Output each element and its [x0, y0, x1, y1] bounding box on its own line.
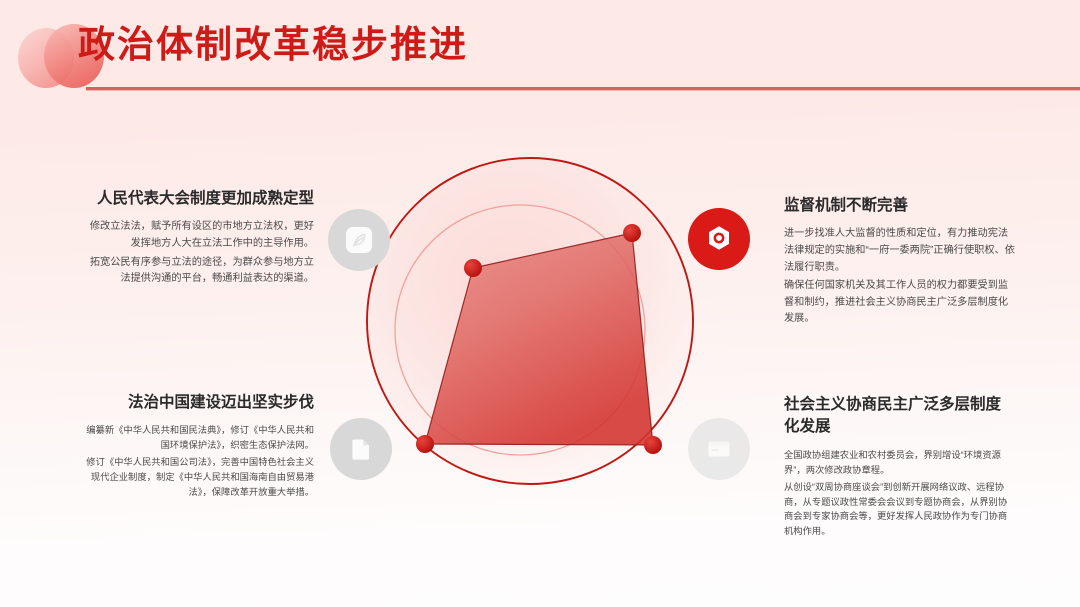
slide-root: 政治体制改革稳步推进 人民代表大会制度更加成熟定型 修改立法法，赋予所有设区的市…: [0, 0, 1080, 607]
block-top-left-para-1: 修改立法法，赋予所有设区的市地方立法权，更好发挥地方人大在立法工作中的主导作用。: [82, 219, 314, 252]
block-top-right: 监督机制不断完善 进一步找准人大监督的性质和定位，有力推动宪法法律规定的实施和“…: [784, 195, 1016, 330]
document-icon: [346, 434, 376, 464]
block-bottom-right-heading: 社会主义协商民主广泛多层制度化发展: [784, 394, 1016, 439]
vertex-top-right-dot[interactable]: [623, 224, 641, 242]
block-bottom-right-para-2: 从创设“双周协商座谈会”到创新开展网络议政、远程协商，从专题议政性常委会会议到专…: [784, 480, 1016, 540]
badge-bottom-left[interactable]: [330, 418, 392, 480]
card-icon: [703, 433, 735, 465]
title-divider: [86, 87, 1080, 90]
badge-bottom-right[interactable]: [688, 418, 750, 480]
badge-top-right[interactable]: [688, 208, 750, 270]
block-top-right-heading: 监督机制不断完善: [784, 195, 1016, 217]
page-title: 政治体制改革稳步推进: [78, 22, 468, 68]
vertex-bottom-right-dot[interactable]: [644, 436, 662, 454]
block-top-left-heading: 人民代表大会制度更加成熟定型: [82, 188, 314, 210]
block-bottom-left-heading: 法治中国建设迈出坚实步伐: [82, 392, 314, 414]
block-bottom-left-para-2: 修订《中华人民共和国公司法》，完善中国特色社会主义现代企业制度，制定《中华人民共…: [82, 455, 314, 500]
vertex-bottom-left-dot[interactable]: [416, 435, 434, 453]
nut-gear-icon: [702, 222, 736, 256]
block-top-left: 人民代表大会制度更加成熟定型 修改立法法，赋予所有设区的市地方立法权，更好发挥地…: [82, 188, 314, 290]
block-bottom-left: 法治中国建设迈出坚实步伐 编纂新《中华人民共和国民法典》，修订《中华人民共和国环…: [82, 392, 314, 502]
vertex-top-left-dot[interactable]: [464, 259, 482, 277]
block-bottom-right-para-1: 全国政协组建农业和农村委员会，界别增设“环境资源界”，两次修改政协章程。: [784, 448, 1016, 478]
block-top-left-para-2: 拓宽公民有序参与立法的途径，为群众参与地方立法提供沟通的平台，畅通利益表达的渠道…: [82, 255, 314, 288]
block-top-right-para-2: 确保任何国家机关及其工作人员的权力都要受到监督和制约，推进社会主义协商民主广泛多…: [784, 278, 1016, 328]
leaf-icon: [344, 225, 374, 255]
badge-top-left[interactable]: [328, 209, 390, 271]
block-bottom-right: 社会主义协商民主广泛多层制度化发展 全国政协组建农业和农村委员会，界别增设“环境…: [784, 394, 1016, 541]
block-top-right-para-1: 进一步找准人大监督的性质和定位，有力推动宪法法律规定的实施和“一府一委两院”正确…: [784, 226, 1016, 276]
block-bottom-left-para-1: 编纂新《中华人民共和国民法典》，修订《中华人民共和国环境保护法》，织密生态保护法…: [82, 423, 314, 453]
